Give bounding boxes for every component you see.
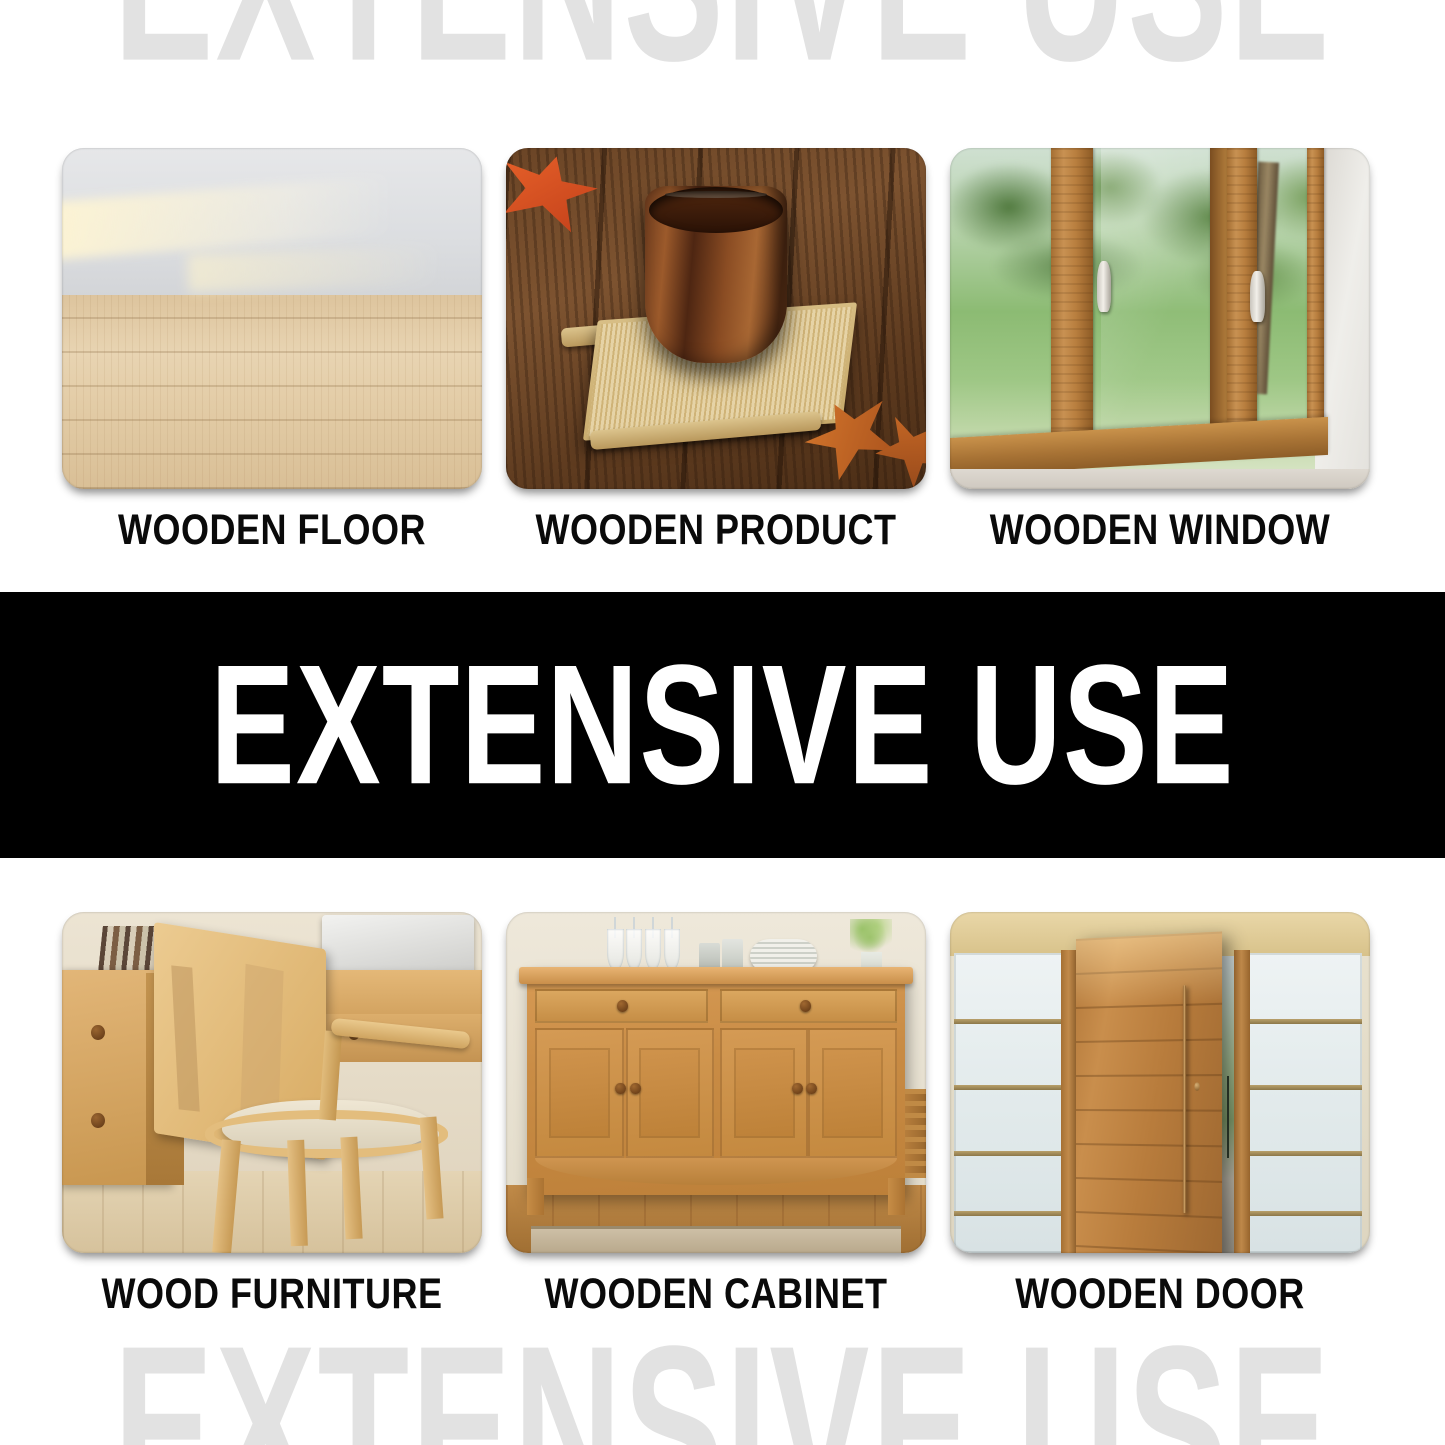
bottom-image-row: WOOD FURNITURE [62, 912, 1370, 1311]
sidelight-bar [1248, 1211, 1361, 1216]
frosted-glass-sidelight [954, 953, 1063, 1253]
scene-wooden-door [950, 912, 1370, 1253]
cabinet-knob [91, 1113, 104, 1128]
caption-wood-furniture: WOOD FURNITURE [62, 1269, 482, 1319]
thumbnail-wood-furniture[interactable] [62, 912, 482, 1253]
cell-wooden-product[interactable]: WOODEN PRODUCT [506, 148, 926, 547]
window-mullion [1307, 148, 1324, 421]
wine-glass [607, 929, 624, 970]
scene-wooden-window [950, 148, 1370, 489]
cell-wood-furniture[interactable]: WOOD FURNITURE [62, 912, 482, 1311]
sidelight-bar [1248, 1085, 1361, 1090]
banner-title: EXTENSIVE USE [210, 640, 1235, 810]
top-image-row: WOODEN FLOOR [62, 148, 1370, 547]
cabinet-leg [888, 1178, 905, 1216]
caption-wooden-floor: WOODEN FLOOR [62, 505, 482, 555]
wine-glass [626, 929, 643, 970]
door-knob [630, 1083, 641, 1095]
frosted-glass-sidelight [1248, 953, 1361, 1253]
scene-wood-furniture [62, 912, 482, 1253]
cell-wooden-door[interactable]: WOODEN DOOR [950, 912, 1370, 1311]
sidelight-bar [954, 1211, 1063, 1216]
extensive-use-banner: EXTENSIVE USE [0, 592, 1445, 858]
sidelight-bar [1248, 1151, 1361, 1156]
door-frame-post [1234, 950, 1251, 1253]
caption-wooden-window: WOODEN WINDOW [950, 505, 1370, 555]
sidelight-bar [954, 1151, 1063, 1156]
window-mullion [1210, 148, 1228, 441]
wine-glass [645, 929, 662, 970]
cell-wooden-floor[interactable]: WOODEN FLOOR [62, 148, 482, 547]
chair-back-slot [240, 963, 283, 1119]
thumbnail-wooden-floor[interactable] [62, 148, 482, 489]
caption-wooden-cabinet: WOODEN CABINET [506, 1269, 926, 1319]
glass-reflection [1101, 148, 1210, 434]
chair-leg [287, 1140, 307, 1246]
window-handle-icon [1097, 261, 1111, 312]
thumbnail-wooden-window[interactable] [950, 148, 1370, 489]
interior-floor [950, 469, 1370, 489]
scene-wooden-floor [62, 148, 482, 489]
door-handle-icon [1183, 986, 1187, 1214]
drawer-knob [800, 1000, 811, 1012]
tea-liquid [665, 191, 767, 198]
scene-wooden-product [506, 148, 926, 489]
sidelight-bar [1248, 1019, 1361, 1024]
area-rug [531, 1226, 901, 1253]
scene-wooden-cabinet [506, 912, 926, 1253]
cabinet-top-surface [519, 967, 914, 984]
cell-wooden-window[interactable]: WOODEN WINDOW [950, 148, 1370, 547]
cabinet-door [535, 1028, 623, 1158]
wine-glass [664, 929, 681, 970]
sidelight-bar [954, 1019, 1063, 1024]
thumbnail-wooden-cabinet[interactable] [506, 912, 926, 1253]
caption-wooden-door: WOODEN DOOR [950, 1269, 1370, 1319]
hardwood-floor-surface [62, 295, 482, 489]
watermark-bottom: EXTENSIVE USE [0, 1311, 1445, 1445]
cell-wooden-cabinet[interactable]: WOODEN CABINET [506, 912, 926, 1311]
cup-rim [649, 187, 783, 233]
watermark-top: EXTENSIVE USE [0, 0, 1445, 95]
background-chair [905, 1089, 926, 1178]
sidelight-bar [954, 1085, 1063, 1090]
cabinet-door [808, 1028, 896, 1158]
drawer-knob [617, 1000, 628, 1012]
flowers [850, 919, 892, 953]
cabinet-knob [91, 1025, 104, 1040]
cabinet-leg [527, 1178, 544, 1216]
caption-wooden-product: WOODEN PRODUCT [506, 505, 926, 555]
wooden-tea-cup [645, 186, 788, 363]
door-knob [792, 1083, 803, 1095]
infographic-page: EXTENSIVE USE WOODEN FLOOR [0, 0, 1445, 1445]
door-lock-icon [1195, 1083, 1200, 1091]
window-mullion [1051, 148, 1093, 448]
thumbnail-wooden-door[interactable] [950, 912, 1370, 1253]
wooden-pivot-door [1076, 932, 1222, 1253]
window-handle-icon [1250, 271, 1264, 322]
door-light-highlight [1076, 932, 1222, 1009]
thumbnail-wooden-product[interactable] [506, 148, 926, 489]
flower-vase [850, 919, 892, 974]
door-knob [615, 1083, 626, 1095]
